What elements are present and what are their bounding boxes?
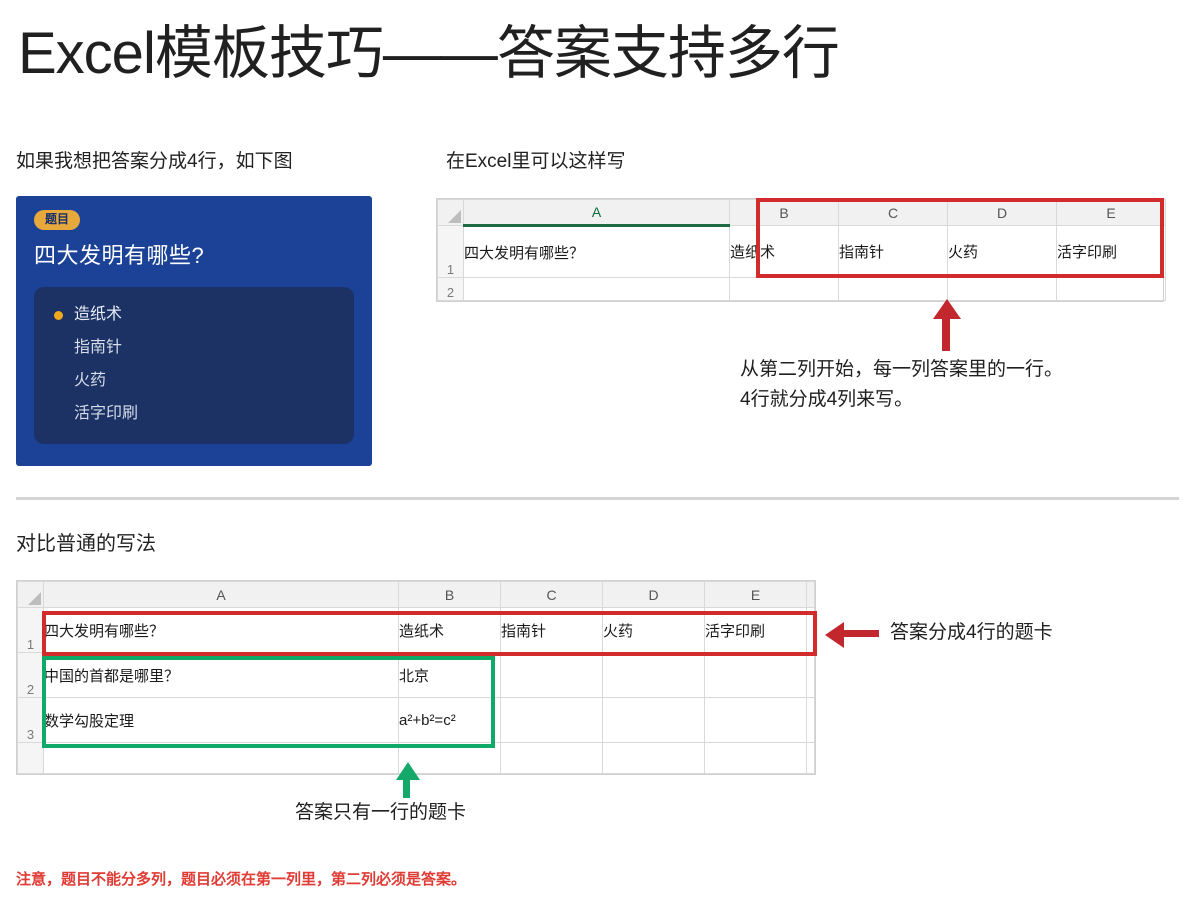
cell-c1[interactable]: 指南针 [501, 608, 603, 653]
footer-warning-note: 注意，题目不能分多列，题目必须在第一列里，第二列必须是答案。 [16, 868, 466, 889]
answer-item-label: 造纸术 [74, 307, 122, 323]
cell-f2[interactable] [807, 653, 815, 698]
cell-e3[interactable] [705, 698, 807, 743]
right-annotation: 从第二列开始，每一列答案里的一行。 4行就分成4列来写。 [740, 355, 1063, 416]
table-row: 1 四大发明有哪些？ 造纸术 指南针 火药 活字印刷 [438, 226, 1166, 278]
column-header-d[interactable]: D [948, 200, 1057, 226]
column-header-b[interactable]: B [399, 582, 501, 608]
right-annotation-line1: 从第二列开始，每一列答案里的一行。 [740, 355, 1063, 385]
column-header-extra[interactable] [807, 582, 815, 608]
row-header-4[interactable] [18, 743, 44, 774]
column-header-b[interactable]: B [730, 200, 839, 226]
cell-c4[interactable] [501, 743, 603, 774]
column-header-c[interactable]: C [839, 200, 948, 226]
status-badge: 题目 [34, 210, 80, 230]
cell-e2[interactable] [1057, 278, 1166, 301]
cell-d2[interactable] [948, 278, 1057, 301]
cell-b3[interactable]: a²+b²=c² [399, 698, 501, 743]
column-header-e[interactable]: E [1057, 200, 1166, 226]
column-header-row: A B C D E [18, 582, 815, 608]
table-row: 2 中国的首都是哪里？ 北京 [18, 653, 815, 698]
green-arrow-shaft [403, 778, 410, 798]
cell-f4[interactable] [807, 743, 815, 774]
question-card: 题目 四大发明有哪些? 造纸术 指南针 火药 活字印刷 [16, 196, 372, 466]
cell-c3[interactable] [501, 698, 603, 743]
cell-d4[interactable] [603, 743, 705, 774]
cell-a3[interactable]: 数学勾股定理 [44, 698, 399, 743]
column-header-d[interactable]: D [603, 582, 705, 608]
compare-section-caption: 对比普通的写法 [16, 527, 156, 556]
table-row: 1 四大发明有哪些？ 造纸术 指南针 火药 活字印刷 [18, 608, 815, 653]
answer-item-label: 活字印刷 [74, 406, 138, 422]
row-header-2[interactable]: 2 [438, 278, 464, 301]
cell-b2[interactable] [730, 278, 839, 301]
cell-d1[interactable]: 火药 [603, 608, 705, 653]
cell-d2[interactable] [603, 653, 705, 698]
answer-item: 指南针 [54, 340, 334, 356]
select-all-corner[interactable] [18, 582, 44, 608]
cell-b2[interactable]: 北京 [399, 653, 501, 698]
spreadsheet-top[interactable]: A B C D E 1 四大发明有哪些？ 造纸术 指南针 火药 活字印刷 2 [436, 198, 1164, 302]
multi-row-annotation: 答案分成4行的题卡 [890, 618, 1053, 648]
cell-f3[interactable] [807, 698, 815, 743]
card-question-text: 四大发明有哪些? [34, 238, 354, 270]
row-header-1[interactable]: 1 [18, 608, 44, 653]
spreadsheet-bottom[interactable]: A B C D E 1 四大发明有哪些？ 造纸术 指南针 火药 活字印刷 2 中… [16, 580, 816, 775]
right-section-caption: 在Excel里可以这样写 [446, 146, 625, 173]
card-answer-panel: 造纸术 指南针 火药 活字印刷 [34, 287, 354, 444]
row-header-3[interactable]: 3 [18, 698, 44, 743]
row-header-2[interactable]: 2 [18, 653, 44, 698]
cell-e1[interactable]: 活字印刷 [1057, 226, 1166, 278]
cell-d1[interactable]: 火药 [948, 226, 1057, 278]
select-all-corner[interactable] [438, 200, 464, 226]
cell-e2[interactable] [705, 653, 807, 698]
cell-b1[interactable]: 造纸术 [730, 226, 839, 278]
cell-e4[interactable] [705, 743, 807, 774]
single-row-annotation: 答案只有一行的题卡 [295, 798, 466, 828]
column-header-e[interactable]: E [705, 582, 807, 608]
cell-d3[interactable] [603, 698, 705, 743]
section-divider [16, 497, 1179, 500]
answer-item: 火药 [54, 373, 334, 389]
column-header-c[interactable]: C [501, 582, 603, 608]
cell-b1[interactable]: 造纸术 [399, 608, 501, 653]
answer-item-label: 火药 [74, 373, 106, 389]
cell-a1[interactable]: 四大发明有哪些？ [464, 226, 730, 278]
table-row: 3 数学勾股定理 a²+b²=c² [18, 698, 815, 743]
answer-item: 造纸术 [54, 307, 334, 323]
cell-c1[interactable]: 指南针 [839, 226, 948, 278]
cell-e1[interactable]: 活字印刷 [705, 608, 807, 653]
cell-f1[interactable] [807, 608, 815, 653]
red-arrow-left-shaft [843, 630, 879, 637]
column-header-row: A B C D E [438, 200, 1166, 226]
red-arrow-left-icon [825, 622, 844, 648]
column-header-a[interactable]: A [44, 582, 399, 608]
left-section-caption: 如果我想把答案分成4行，如下图 [16, 146, 293, 173]
right-annotation-line2: 4行就分成4列来写。 [740, 385, 1063, 415]
bullet-icon-placeholder [54, 377, 63, 386]
red-arrow-up-icon [933, 299, 961, 319]
table-row: 2 [438, 278, 1166, 301]
column-header-a[interactable]: A [464, 200, 730, 226]
cell-c2[interactable] [839, 278, 948, 301]
answer-item-label: 指南针 [74, 340, 122, 356]
bullet-icon-placeholder [54, 410, 63, 419]
red-arrow-shaft [942, 317, 950, 351]
answer-item: 活字印刷 [54, 406, 334, 422]
cell-a4[interactable] [44, 743, 399, 774]
cell-a1[interactable]: 四大发明有哪些？ [44, 608, 399, 653]
page-title: Excel模板技巧——答案支持多行 [18, 22, 839, 87]
bullet-icon-placeholder [54, 344, 63, 353]
row-header-1[interactable]: 1 [438, 226, 464, 278]
cell-c2[interactable] [501, 653, 603, 698]
bullet-icon [54, 311, 63, 320]
cell-a2[interactable] [464, 278, 730, 301]
cell-a2[interactable]: 中国的首都是哪里？ [44, 653, 399, 698]
